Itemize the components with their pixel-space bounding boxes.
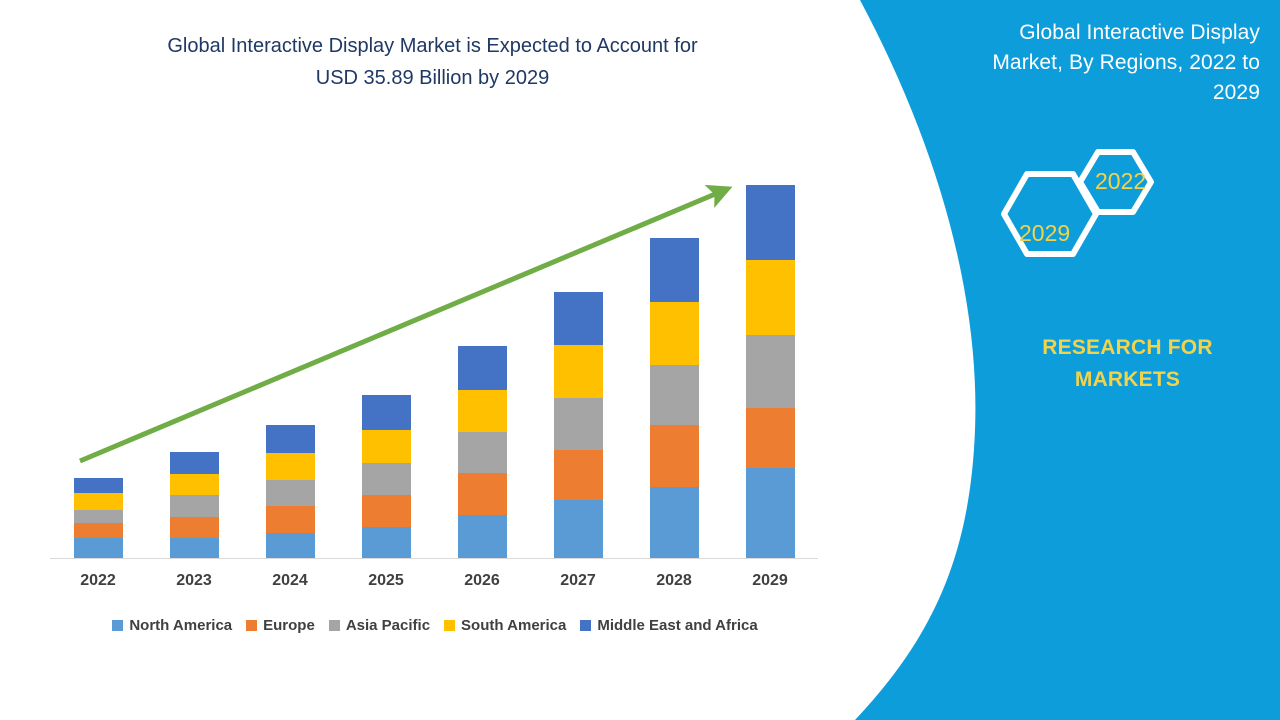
bar-segment-middle-east-and-africa[interactable]	[650, 238, 699, 302]
bar-column-2028[interactable]	[626, 130, 722, 559]
slide-root: Global Interactive Display Market, By Re…	[0, 0, 1280, 720]
bar-segment-asia-pacific[interactable]	[650, 365, 699, 425]
legend-item-north-america[interactable]: North America	[112, 617, 232, 634]
bar-segment-asia-pacific[interactable]	[554, 398, 603, 450]
bar-stack	[362, 395, 411, 559]
category-label-2024: 2024	[242, 572, 338, 590]
bar-segment-europe[interactable]	[362, 495, 411, 527]
bar-chart-plot	[50, 130, 818, 559]
bar-column-2022[interactable]	[50, 130, 146, 559]
bar-column-2027[interactable]	[530, 130, 626, 559]
bar-column-2025[interactable]	[338, 130, 434, 559]
category-label-2025: 2025	[338, 572, 434, 590]
bar-segment-asia-pacific[interactable]	[746, 335, 795, 408]
bar-segment-asia-pacific[interactable]	[362, 463, 411, 495]
bar-segment-middle-east-and-africa[interactable]	[74, 478, 123, 493]
bar-segment-europe[interactable]	[74, 523, 123, 538]
bar-segment-europe[interactable]	[746, 408, 795, 468]
legend-item-europe[interactable]: Europe	[246, 617, 315, 634]
bar-stack	[74, 478, 123, 559]
chart-legend: North AmericaEuropeAsia PacificSouth Ame…	[40, 617, 830, 634]
category-label-2029: 2029	[722, 572, 818, 590]
bar-stack	[554, 292, 603, 559]
chart-title: Global Interactive Display Market is Exp…	[60, 30, 805, 94]
category-label-2028: 2028	[626, 572, 722, 590]
category-label-2023: 2023	[146, 572, 242, 590]
bar-segment-europe[interactable]	[554, 450, 603, 500]
bar-segment-middle-east-and-africa[interactable]	[266, 425, 315, 453]
bar-segment-north-america[interactable]	[74, 538, 123, 559]
bar-segment-middle-east-and-africa[interactable]	[170, 452, 219, 474]
panel-heading: Global Interactive Display Market, By Re…	[955, 18, 1260, 108]
legend-label: Europe	[263, 617, 315, 634]
legend-label: Asia Pacific	[346, 617, 430, 634]
bar-segment-middle-east-and-africa[interactable]	[458, 346, 507, 390]
legend-item-south-america[interactable]: South America	[444, 617, 566, 634]
bar-segment-middle-east-and-africa[interactable]	[746, 185, 795, 260]
bar-segment-south-america[interactable]	[362, 430, 411, 463]
bar-stack	[458, 346, 507, 559]
bar-segment-south-america[interactable]	[170, 474, 219, 495]
bar-column-2024[interactable]	[242, 130, 338, 559]
bar-segment-south-america[interactable]	[650, 302, 699, 365]
brand-line-1: RESEARCH FOR	[1000, 332, 1255, 364]
legend-swatch-icon	[329, 620, 340, 631]
legend-item-middle-east-and-africa[interactable]: Middle East and Africa	[580, 617, 757, 634]
bar-segment-north-america[interactable]	[458, 515, 507, 559]
hexagon-2022-label: 2022	[1095, 168, 1146, 195]
chart-title-line-1: Global Interactive Display Market is Exp…	[60, 30, 805, 62]
legend-swatch-icon	[112, 620, 123, 631]
bar-segment-south-america[interactable]	[458, 390, 507, 432]
category-label-2026: 2026	[434, 572, 530, 590]
category-axis-line	[50, 558, 818, 559]
bar-segment-europe[interactable]	[170, 517, 219, 538]
bar-stack	[170, 452, 219, 559]
bar-segment-asia-pacific[interactable]	[170, 495, 219, 517]
bar-segment-south-america[interactable]	[266, 453, 315, 480]
bar-segment-europe[interactable]	[458, 473, 507, 515]
chart-title-line-2: USD 35.89 Billion by 2029	[60, 62, 805, 94]
bar-segment-asia-pacific[interactable]	[74, 510, 123, 523]
bar-segment-north-america[interactable]	[554, 500, 603, 559]
bar-stack	[650, 238, 699, 559]
hexagon-group	[985, 148, 1185, 288]
legend-swatch-icon	[580, 620, 591, 631]
bar-segment-middle-east-and-africa[interactable]	[362, 395, 411, 430]
bar-segment-north-america[interactable]	[170, 538, 219, 559]
category-labels: 20222023202420252026202720282029	[50, 572, 818, 590]
bar-segment-north-america[interactable]	[266, 533, 315, 559]
bar-segment-asia-pacific[interactable]	[266, 480, 315, 506]
bar-segment-north-america[interactable]	[746, 468, 795, 559]
bar-column-2026[interactable]	[434, 130, 530, 559]
bar-stack	[746, 185, 795, 559]
bar-segment-south-america[interactable]	[554, 345, 603, 398]
bar-segment-south-america[interactable]	[746, 260, 795, 335]
category-label-2027: 2027	[530, 572, 626, 590]
legend-swatch-icon	[246, 620, 257, 631]
bar-segment-middle-east-and-africa[interactable]	[554, 292, 603, 345]
legend-swatch-icon	[444, 620, 455, 631]
bar-segment-europe[interactable]	[266, 506, 315, 533]
bar-segment-north-america[interactable]	[362, 527, 411, 559]
bar-column-2029[interactable]	[722, 130, 818, 559]
bar-segment-europe[interactable]	[650, 425, 699, 487]
bar-stack	[266, 425, 315, 559]
bar-segment-south-america[interactable]	[74, 493, 123, 510]
bar-segment-north-america[interactable]	[650, 487, 699, 559]
bar-column-2023[interactable]	[146, 130, 242, 559]
brand-wordmark: RESEARCH FOR MARKETS	[1000, 332, 1255, 396]
legend-label: Middle East and Africa	[597, 617, 757, 634]
hexagon-2029-label: 2029	[1019, 220, 1070, 247]
legend-item-asia-pacific[interactable]: Asia Pacific	[329, 617, 430, 634]
brand-line-2: MARKETS	[1000, 364, 1255, 396]
legend-label: North America	[129, 617, 232, 634]
legend-label: South America	[461, 617, 566, 634]
bar-segment-asia-pacific[interactable]	[458, 432, 507, 473]
category-label-2022: 2022	[50, 572, 146, 590]
